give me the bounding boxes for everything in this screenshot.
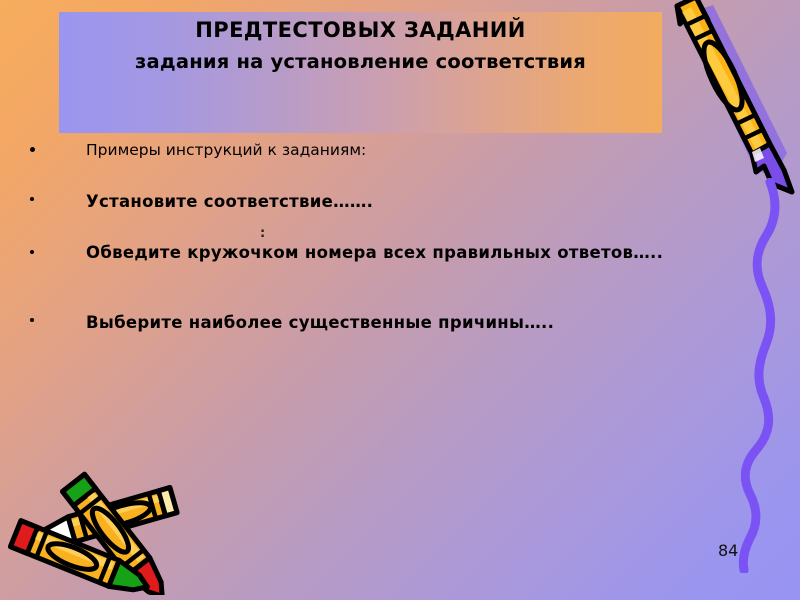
stray-colon-mark: : — [260, 226, 265, 241]
page-subtitle: задания на установление соответствия — [59, 50, 662, 73]
list-item-label: Примеры инструкций к заданиям: — [86, 141, 670, 160]
bullet-dot-icon — [30, 318, 34, 322]
bullet-dot-icon — [30, 250, 34, 254]
list-item-label: Обведите кружочком номера всех правильны… — [86, 243, 670, 264]
list-item-label: Установите соответствие……. — [86, 192, 670, 213]
crossed-crayons-icon — [8, 465, 223, 595]
purple-wavy-line-icon — [726, 178, 800, 573]
list-item-label: Выберите наиболее существенные причины….… — [86, 313, 670, 334]
slide-canvas: ПРЕДТЕСТОВЫХ ЗАДАНИЙ задания на установл… — [0, 0, 800, 600]
yellow-crayon-icon — [660, 0, 800, 206]
title-box: ПРЕДТЕСТОВЫХ ЗАДАНИЙ задания на установл… — [59, 12, 662, 133]
page-title: ПРЕДТЕСТОВЫХ ЗАДАНИЙ — [59, 18, 662, 42]
bullet-dot-icon — [30, 147, 35, 152]
bullet-dot-icon — [30, 197, 34, 201]
